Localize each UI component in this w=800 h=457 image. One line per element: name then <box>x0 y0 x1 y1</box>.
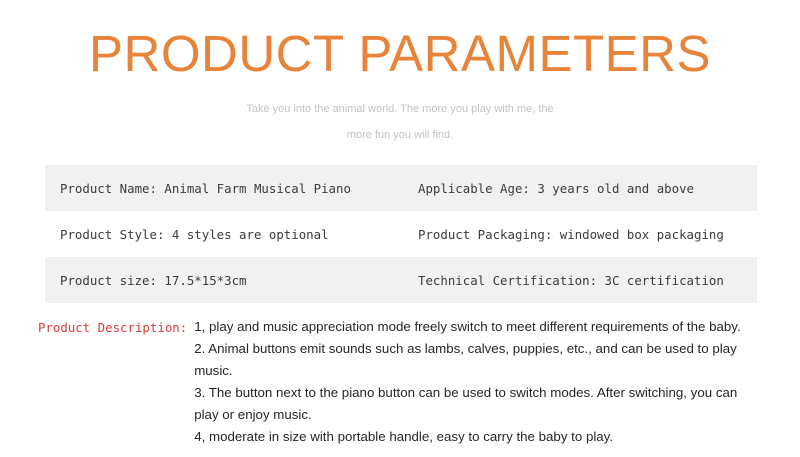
product-parameters-page: PRODUCT PARAMETERS Take you into the ani… <box>0 0 800 457</box>
spec-product-style: Product Style: 4 styles are optional <box>45 227 418 242</box>
spec-product-packaging: Product Packaging: windowed box packagin… <box>418 227 757 242</box>
description-line-4: 4, moderate in size with portable handle… <box>194 426 754 448</box>
spec-applicable-age: Applicable Age: 3 years old and above <box>418 181 757 196</box>
subtitle-line-2: more fun you will find. <box>185 122 615 148</box>
spec-technical-certification: Technical Certification: 3C certificatio… <box>418 273 757 288</box>
product-description-label: Product Description: <box>38 316 187 339</box>
description-line-3: 3. The button next to the piano button c… <box>194 382 754 426</box>
product-description-body: 1, play and music appreciation mode free… <box>194 316 754 448</box>
subtitle-line-1: Take you into the animal world. The more… <box>185 96 615 122</box>
page-subtitle: Take you into the animal world. The more… <box>185 96 615 148</box>
page-header: PRODUCT PARAMETERS Take you into the ani… <box>0 0 800 148</box>
specification-table: Product Name: Animal Farm Musical Piano … <box>45 165 757 303</box>
spec-product-size: Product size: 17.5*15*3cm <box>45 273 418 288</box>
table-row: Product size: 17.5*15*3cm Technical Cert… <box>45 257 757 303</box>
description-line-2: 2. Animal buttons emit sounds such as la… <box>194 338 754 382</box>
table-row: Product Name: Animal Farm Musical Piano … <box>45 165 757 211</box>
product-description-section: Product Description: 1, play and music a… <box>38 316 778 448</box>
page-title: PRODUCT PARAMETERS <box>0 26 800 82</box>
spec-product-name: Product Name: Animal Farm Musical Piano <box>45 181 418 196</box>
table-row: Product Style: 4 styles are optional Pro… <box>45 211 757 257</box>
description-line-1: 1, play and music appreciation mode free… <box>194 316 754 338</box>
